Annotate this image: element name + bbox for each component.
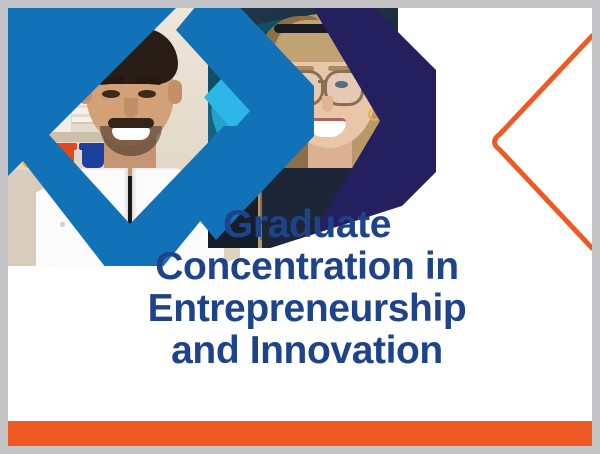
lab-beaker-blue [82,148,104,168]
headline-line-1: Graduate [78,204,536,246]
headline-line-4: and Innovation [78,330,536,372]
woman-nose [322,96,333,112]
bottom-orange-bar [8,421,592,446]
woman-eyeglass-bridge [318,80,326,83]
headline-line-2: Concentration in [78,246,536,288]
man-eye-left [102,90,120,98]
headline-line-3: Entrepreneurship [78,288,536,330]
banner-canvas: Graduate Concentration in Entrepreneursh… [8,8,592,446]
man-nose [124,98,138,118]
man-eye-right [138,90,156,98]
page-title: Graduate Concentration in Entrepreneursh… [8,204,592,372]
man-moustache [108,118,154,128]
promo-banner: Graduate Concentration in Entrepreneursh… [0,0,600,454]
man-smile [112,128,150,140]
man-ear-right [168,80,182,104]
